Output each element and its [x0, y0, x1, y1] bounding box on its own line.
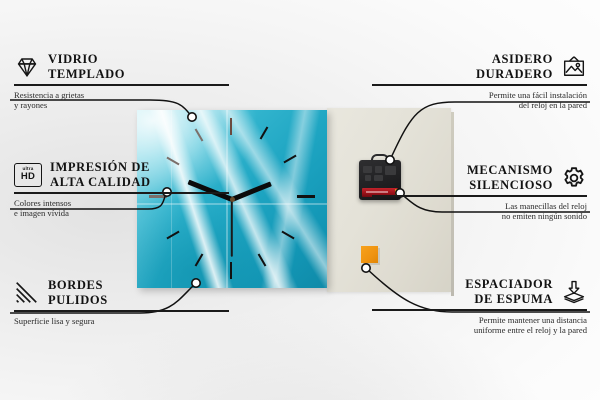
feature-divider — [372, 195, 587, 197]
feature-heading-row: ASIDERO DURADERO — [372, 52, 587, 81]
clock-second-hand — [231, 199, 233, 257]
feature-title: BORDES PULIDOS — [48, 278, 108, 307]
feature-heading-row: ultra HD IMPRESIÓN DE ALTA CALIDAD — [14, 160, 229, 189]
wall-hanger-frame-icon — [561, 54, 587, 80]
feature-title: VIDRIO TEMPLADO — [48, 52, 125, 81]
feature-bordes-pulidos: BORDES PULIDOS Superficie lisa y segura — [14, 278, 229, 326]
feature-description: Colores intensos e imagen vívida — [14, 198, 229, 219]
feature-description: Permite una fácil instalación del reloj … — [372, 90, 587, 111]
clock-tick-3 — [297, 195, 315, 198]
clock-tick-12 — [230, 118, 232, 135]
ultra-hd-badge-icon: ultra HD — [14, 163, 42, 187]
gear-icon — [561, 165, 587, 191]
feature-title: MECANISMO SILENCIOSO — [467, 163, 553, 192]
feature-asidero-duradero: ASIDERO DURADERO Permite una fácil insta… — [372, 52, 587, 111]
feature-vidrio-templado: VIDRIO TEMPLADO Resistencia a grietas y … — [14, 52, 229, 111]
feature-divider — [14, 192, 229, 194]
feature-mecanismo-silencioso: MECANISMO SILENCIOSO Las manecillas del … — [372, 163, 587, 222]
feature-heading-row: MECANISMO SILENCIOSO — [372, 163, 587, 192]
feature-description: Las manecillas del reloj no emiten ningú… — [372, 201, 587, 222]
feature-espaciador-de-espuma: ESPACIADOR DE ESPUMA Permite mantener un… — [372, 277, 587, 336]
infographic-canvas: VIDRIO TEMPLADO Resistencia a grietas y … — [0, 0, 600, 400]
feature-heading-row: BORDES PULIDOS — [14, 278, 229, 307]
feature-description: Permite mantener una distancia uniforme … — [372, 315, 587, 336]
foam-spacer-arrow-icon — [561, 279, 587, 305]
feature-divider — [372, 84, 587, 86]
polished-edges-icon — [14, 280, 40, 306]
feature-description: Superficie lisa y segura — [14, 316, 229, 327]
feature-heading-row: ESPACIADOR DE ESPUMA — [372, 277, 587, 306]
feature-divider — [14, 84, 229, 86]
feature-description: Resistencia a grietas y rayones — [14, 90, 229, 111]
diamond-icon — [14, 54, 40, 80]
feature-title: IMPRESIÓN DE ALTA CALIDAD — [50, 160, 151, 189]
foam-spacer-chip — [361, 246, 378, 263]
clock-tick-6 — [230, 262, 232, 279]
feature-divider — [14, 310, 229, 312]
feature-divider — [372, 309, 587, 311]
feature-heading-row: VIDRIO TEMPLADO — [14, 52, 229, 81]
feature-impresion-alta-calidad: ultra HD IMPRESIÓN DE ALTA CALIDAD Color… — [14, 160, 229, 219]
feature-title: ESPACIADOR DE ESPUMA — [465, 277, 553, 306]
clock-center-pin — [230, 197, 235, 202]
feature-title: ASIDERO DURADERO — [476, 52, 553, 81]
